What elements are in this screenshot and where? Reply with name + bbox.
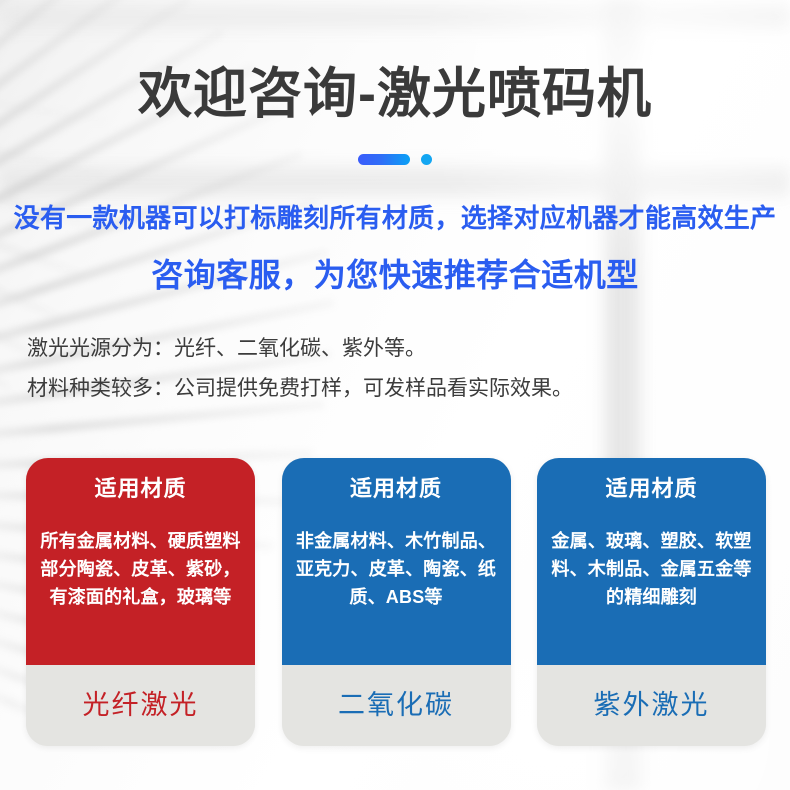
card-co2-laser-heading: 适用材质 [350, 476, 442, 502]
card-fiber-laser-label: 光纤激光 [83, 689, 199, 721]
card-uv-laser-footer: 紫外激光 [537, 665, 766, 746]
subtitle-primary: 没有一款机器可以打标雕刻所有材质，选择对应机器才能高效生产 [0, 202, 790, 236]
notes-block: 激光光源分为：光纤、二氧化碳、紫外等。 材料种类较多：公司提供免费打样，可发样品… [27, 334, 747, 415]
title-divider [0, 152, 790, 166]
card-fiber-laser-body: 所有金属材料、硬质塑料部分陶瓷、皮革、紫砂，有漆面的礼盒，玻璃等 [38, 528, 243, 612]
card-co2-laser-footer: 二氧化碳 [282, 665, 511, 746]
poster-content: 欢迎咨询-激光喷码机 没有一款机器可以打标雕刻所有材质，选择对应机器才能高效生产… [0, 0, 790, 790]
card-co2-laser-label: 二氧化碳 [338, 689, 454, 721]
card-co2-laser[interactable]: 适用材质 非金属材料、木竹制品、亚克力、皮革、陶瓷、纸质、ABS等 二氧化碳 [282, 458, 511, 746]
note-line-materials: 材料种类较多：公司提供免费打样，可发样品看实际效果。 [27, 374, 747, 404]
divider-bar [358, 154, 410, 165]
card-uv-laser-body: 金属、玻璃、塑胶、软塑料、木制品、金属五金等的精细雕刻 [549, 528, 754, 612]
card-fiber-laser-top: 适用材质 所有金属材料、硬质塑料部分陶瓷、皮革、紫砂，有漆面的礼盒，玻璃等 [26, 458, 255, 665]
card-uv-laser-label: 紫外激光 [594, 689, 710, 721]
card-co2-laser-top: 适用材质 非金属材料、木竹制品、亚克力、皮革、陶瓷、纸质、ABS等 [282, 458, 511, 665]
divider-dot [421, 154, 432, 165]
promo-poster: 欢迎咨询-激光喷码机 没有一款机器可以打标雕刻所有材质，选择对应机器才能高效生产… [0, 0, 790, 790]
card-co2-laser-body: 非金属材料、木竹制品、亚克力、皮革、陶瓷、纸质、ABS等 [294, 528, 499, 612]
subtitle-secondary: 咨询客服，为您快速推荐合适机型 [0, 255, 790, 297]
card-fiber-laser-footer: 光纤激光 [26, 665, 255, 746]
material-cards: 适用材质 所有金属材料、硬质塑料部分陶瓷、皮革、紫砂，有漆面的礼盒，玻璃等 光纤… [26, 458, 766, 746]
page-title: 欢迎咨询-激光喷码机 [0, 63, 790, 126]
card-fiber-laser[interactable]: 适用材质 所有金属材料、硬质塑料部分陶瓷、皮革、紫砂，有漆面的礼盒，玻璃等 光纤… [26, 458, 255, 746]
card-uv-laser-top: 适用材质 金属、玻璃、塑胶、软塑料、木制品、金属五金等的精细雕刻 [537, 458, 766, 665]
note-line-laser-sources: 激光光源分为：光纤、二氧化碳、紫外等。 [27, 334, 747, 364]
card-uv-laser-heading: 适用材质 [605, 476, 697, 502]
card-uv-laser[interactable]: 适用材质 金属、玻璃、塑胶、软塑料、木制品、金属五金等的精细雕刻 紫外激光 [537, 458, 766, 746]
card-fiber-laser-heading: 适用材质 [94, 476, 186, 502]
